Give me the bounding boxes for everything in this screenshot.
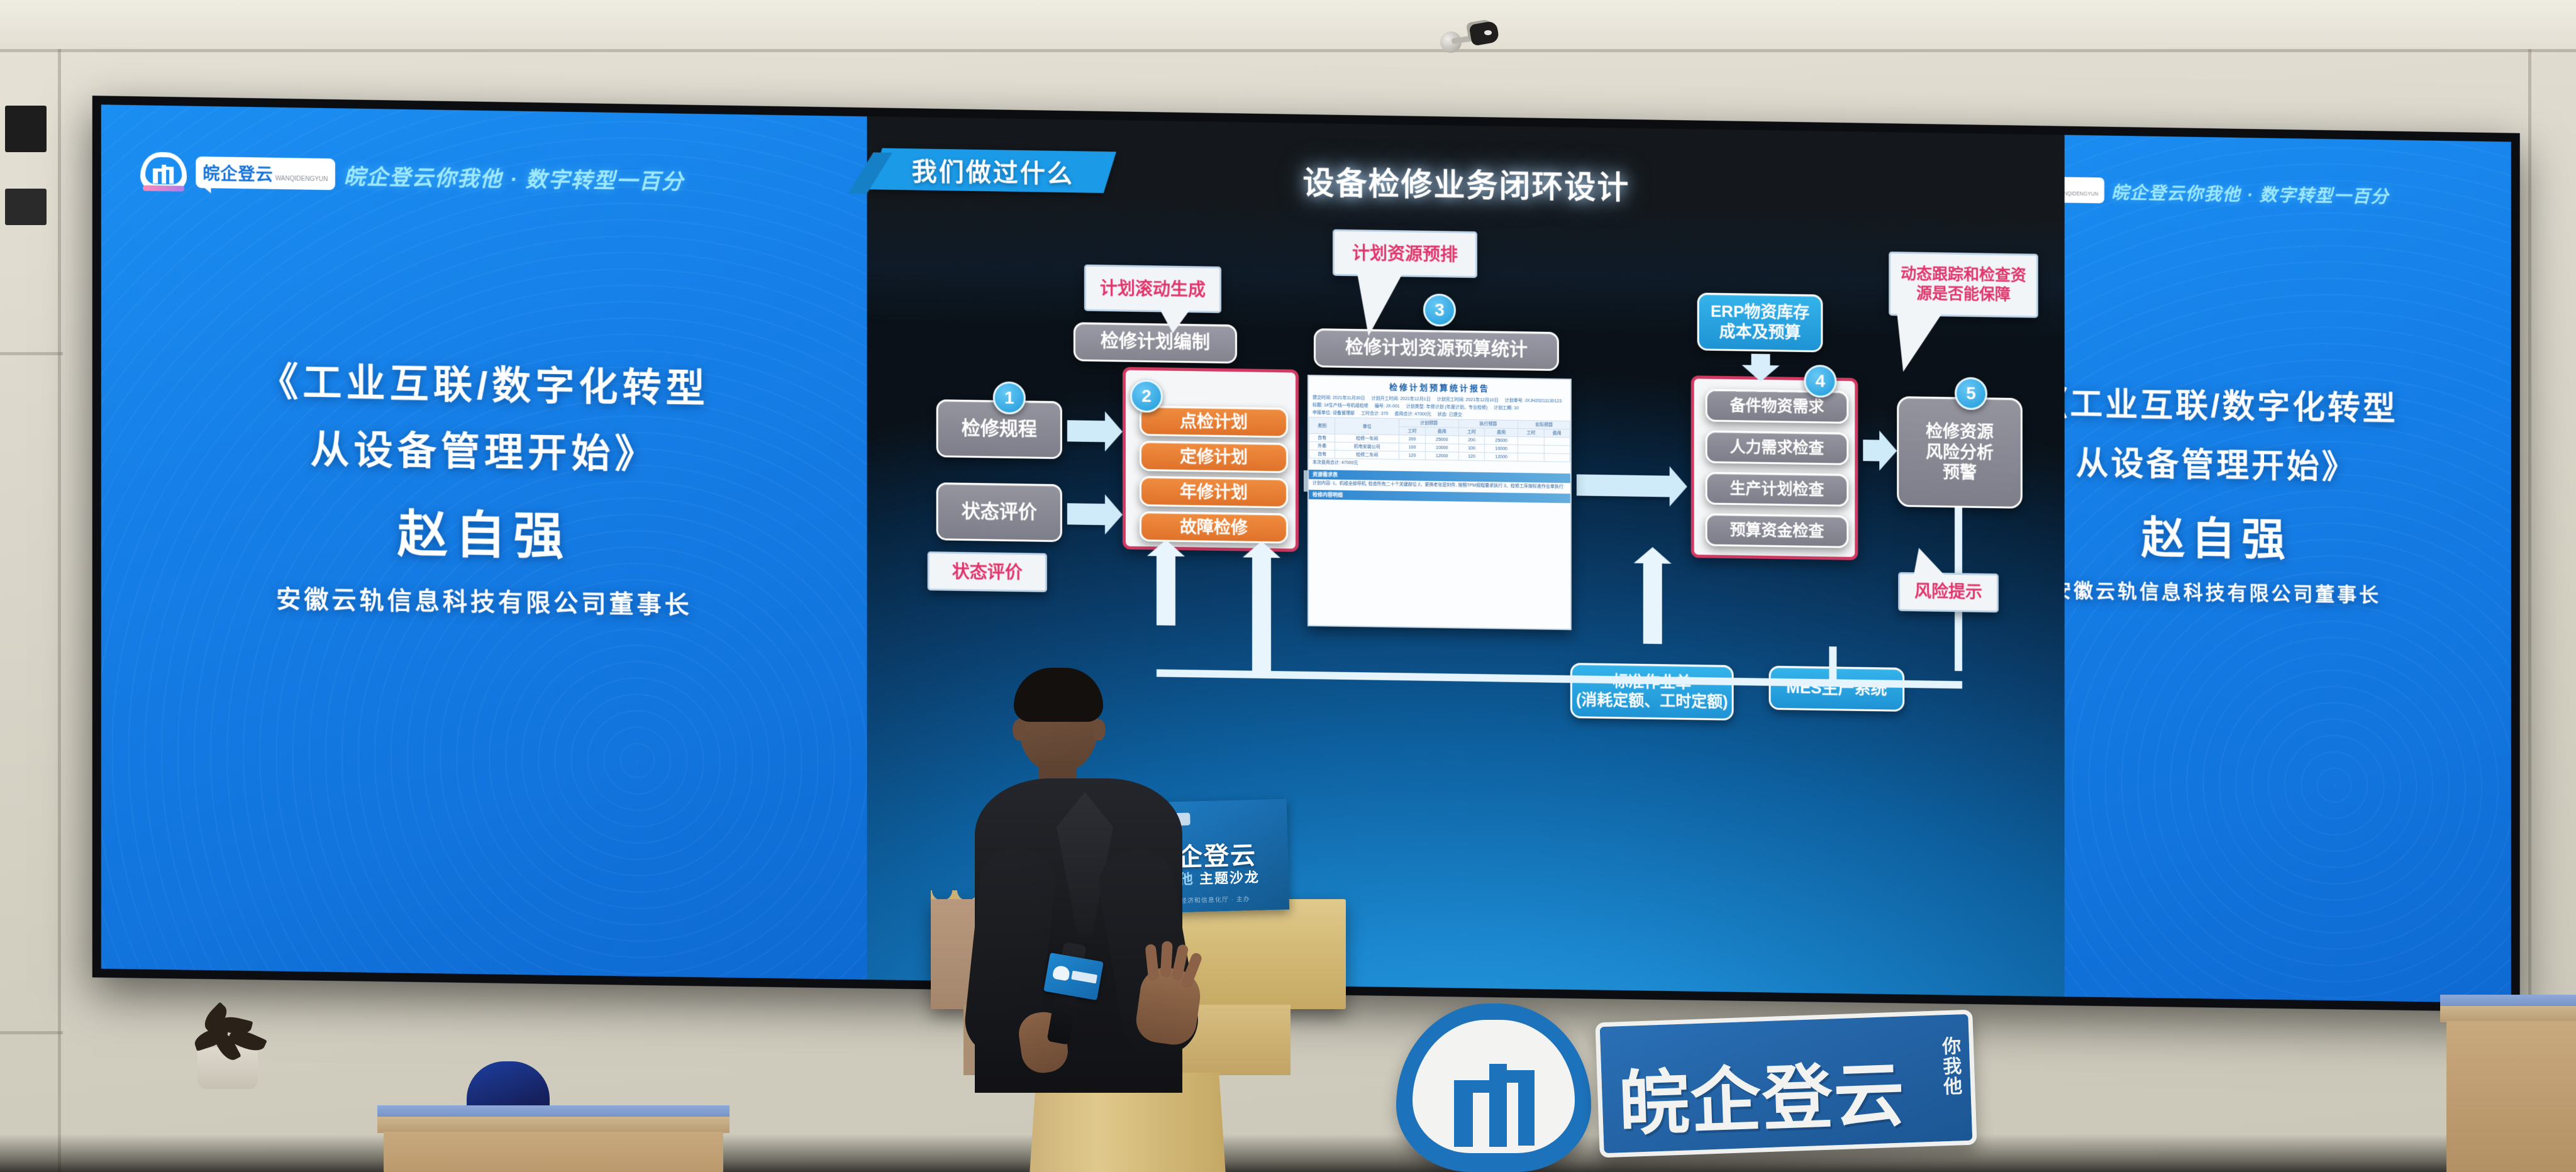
arrow-rules-to-plan bbox=[1067, 420, 1106, 442]
arrow-up-to-plan-b bbox=[1252, 556, 1271, 676]
node-line2: 成本及预算 bbox=[1719, 322, 1801, 343]
arrow-check-to-risk bbox=[1863, 440, 1880, 461]
report-meta: 提交时间: 2021年11月30日 计划开工时间: 2021年12月1日 计划完… bbox=[1309, 393, 1570, 421]
arrow-sop-up bbox=[1643, 562, 1662, 644]
floor-sign-text: 皖企登云 bbox=[1617, 1037, 1907, 1149]
front-table-left bbox=[377, 1117, 730, 1172]
plan-item-0: 点检计划 bbox=[1140, 406, 1288, 438]
node-risk-analysis: 检修资源 风险分析 预警 bbox=[1897, 396, 2023, 509]
ceiling bbox=[0, 0, 2576, 49]
banner-slogan: 皖企登云你我他 · 数字转型一百分 bbox=[343, 159, 684, 195]
node-plan-budget-stats: 检修计划资源预算统计 bbox=[1314, 328, 1559, 371]
step-badge-2: 2 bbox=[1130, 380, 1163, 413]
callout-risk-prompt: 风险提示 bbox=[1898, 572, 1999, 612]
floor-sign-cloud-icon bbox=[1396, 1003, 1591, 1172]
group-check-items: 备件物资需求 人力需求检查 生产计划检查 预算资金检查 bbox=[1691, 375, 1858, 560]
callout-text-line2: 源是否能保障 bbox=[1916, 284, 2011, 305]
presenter-ear bbox=[1093, 719, 1106, 741]
callout-text: 状态评价 bbox=[952, 560, 1023, 583]
callout-text-line1: 动态跟踪和检查资 bbox=[1901, 264, 2026, 285]
arrow-up-to-plan-a bbox=[1157, 555, 1175, 625]
banner-slogan: 皖企登云你我他 · 数字转型一百分 bbox=[2111, 178, 2389, 207]
cloud-logo-icon bbox=[140, 152, 187, 191]
logo-wordmark: 皖企登云 WANQIDENGYUN bbox=[196, 157, 335, 190]
presenter bbox=[981, 673, 1195, 1113]
led-video-wall: 皖企登云 WANQIDENGYUN 皖企登云你我他 · 数字转型一百分 《工业互… bbox=[92, 96, 2520, 1012]
arrow-report-to-check bbox=[1577, 474, 1671, 497]
banner-title-line1: 《工业互联/数字化转型 bbox=[101, 348, 867, 416]
step-badge-1: 1 bbox=[993, 381, 1026, 414]
callout-status-eval: 状态评价 bbox=[928, 551, 1047, 592]
node-line2: 风险分析 bbox=[1926, 441, 1994, 463]
logo-main-text: 皖企登云 bbox=[203, 160, 273, 185]
node-line2: (消耗定额、工时定额) bbox=[1576, 690, 1728, 712]
node-status-evaluation: 状态评价 bbox=[936, 482, 1062, 542]
check-item-3: 预算资金检查 bbox=[1706, 513, 1849, 548]
report-section-2: 检修内容明细 bbox=[1309, 490, 1570, 503]
step-badge-3: 3 bbox=[1423, 294, 1456, 327]
ceiling-camera-icon bbox=[1440, 18, 1497, 54]
banner-left: 皖企登云 WANQIDENGYUN 皖企登云你我他 · 数字转型一百分 《工业互… bbox=[101, 104, 867, 980]
presenter-hair bbox=[1014, 668, 1103, 722]
arrow-eval-to-plan bbox=[1067, 503, 1106, 525]
potted-plant bbox=[182, 993, 277, 1094]
embedded-report-screenshot: 检修计划预算统计报告 提交时间: 2021年11月30日 计划开工时间: 202… bbox=[1307, 375, 1572, 630]
report-table: 类别 单位 计划预算 执行预算 实际预算 工时 费用 工时 费用 工时 bbox=[1309, 417, 1570, 462]
node-plan-compilation: 检修计划编制 bbox=[1074, 322, 1237, 363]
node-line1: ERP物资库存 bbox=[1711, 302, 1809, 323]
callout-text: 计划滚动生成 bbox=[1100, 277, 1206, 301]
side-table-right bbox=[2440, 1006, 2576, 1172]
node-sop: 标准作业单 (消耗定额、工时定额) bbox=[1570, 663, 1734, 721]
callout-text: 风险提示 bbox=[1914, 581, 1982, 603]
arrow-erp-down bbox=[1752, 354, 1770, 367]
plan-item-2: 年修计划 bbox=[1140, 476, 1288, 509]
check-item-1: 人力需求检查 bbox=[1706, 430, 1849, 465]
wall-seam bbox=[0, 352, 63, 355]
callout-resource-schedule: 计划资源预排 bbox=[1333, 229, 1477, 278]
screenshot-root: 皖企登云 WANQIDENGYUN 皖企登云你我他 · 数字转型一百分 《工业互… bbox=[0, 0, 2576, 1172]
speaker-org: 安徽云轨信息科技有限公司董事长 bbox=[101, 577, 867, 624]
check-item-2: 生产计划检查 bbox=[1706, 472, 1849, 506]
step-badge-5: 5 bbox=[1955, 377, 1987, 411]
logo-sub-text: WANQIDENGYUN bbox=[275, 176, 328, 183]
plan-item-1: 定修计划 bbox=[1140, 441, 1288, 473]
node-line3: 预警 bbox=[1943, 463, 1977, 484]
floor-sign-plate: 皖企登云 你我他 bbox=[1595, 1010, 1977, 1158]
callout-text: 计划资源预排 bbox=[1352, 242, 1458, 266]
speaker-name: 赵自强 bbox=[101, 489, 867, 573]
wall-vent bbox=[5, 189, 47, 225]
placard-sub-bright: 主题沙龙 bbox=[1199, 870, 1260, 887]
wall-seam bbox=[58, 49, 61, 1172]
step-badge-4: 4 bbox=[1804, 365, 1836, 398]
wall-seam bbox=[0, 49, 2576, 52]
node-line1: 检修资源 bbox=[1926, 421, 1994, 443]
callout-rolling-plan: 计划滚动生成 bbox=[1084, 265, 1221, 313]
plan-item-3: 故障检修 bbox=[1140, 511, 1288, 544]
presenter-ear bbox=[1013, 719, 1025, 741]
wall-vent bbox=[5, 106, 47, 152]
wall-seam bbox=[0, 1031, 63, 1034]
banner-title-line2: 从设备管理开始》 bbox=[101, 414, 867, 482]
floor-sign-vertical-text: 你我他 bbox=[1939, 1036, 1961, 1097]
callout-dynamic-tracking: 动态跟踪和检查资 源是否能保障 bbox=[1889, 252, 2038, 318]
node-erp-inventory: ERP物资库存 成本及预算 bbox=[1697, 292, 1823, 352]
floor-sign: 皖企登云 你我他 bbox=[1396, 1003, 1987, 1172]
